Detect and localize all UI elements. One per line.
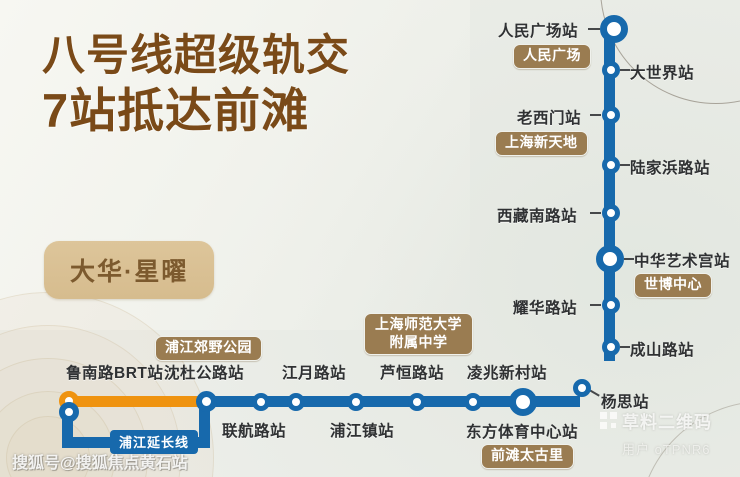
station-tick-renmin-guangchang <box>588 28 600 30</box>
corner-arc-top-right <box>600 0 740 104</box>
station-label-dongfang-tiyu-zhongxin: 东方体育中心站 <box>466 420 578 442</box>
station-tick-yangsi <box>589 389 600 396</box>
station-dot-lujiabang-lu[interactable] <box>602 156 620 174</box>
station-dot-pujiang-zhen[interactable] <box>347 393 365 411</box>
station-tick-chengshan-lu <box>620 346 630 348</box>
brt-line-horizontal <box>68 396 210 407</box>
station-dot-yangsi[interactable] <box>573 379 591 397</box>
station-label-xizang-nan-lu: 西藏南路站 <box>497 204 577 226</box>
watermark-right-title: 草料二维码 <box>622 408 712 433</box>
poi-badge-shisida-fuzhong: 上海师范大学 附属中学 <box>364 313 473 355</box>
headline-line-2: 7站抵达前滩 <box>42 86 350 136</box>
poi-badge-pujiang-jiaoye-gongyuan: 浦江郊野公园 <box>155 336 262 361</box>
station-label-pujiang-zhen: 浦江镇站 <box>330 419 394 441</box>
station-tick-xizang-nan-lu <box>590 212 601 214</box>
watermark-right: 草料二维码 用户 oTPNR6 <box>600 408 712 458</box>
station-label-chengshan-lu: 成山路站 <box>630 338 694 360</box>
station-tick-laoximen <box>590 114 601 116</box>
poi-badge-line-2: 附属中学 <box>375 334 462 352</box>
station-dot-dashijie[interactable] <box>602 61 620 79</box>
poi-badge-shibo-zhongxin: 世博中心 <box>634 273 712 298</box>
poi-badge-line-1: 上海师范大学 <box>375 316 462 334</box>
station-label-lunan-lu-brt: 鲁南路BRT站 <box>66 361 163 383</box>
station-dot-xizang-nan-lu[interactable] <box>602 204 620 222</box>
brand-badge: 大华·星曜 <box>44 241 214 299</box>
station-label-renmin-guangchang: 人民广场站 <box>498 19 578 41</box>
station-dot-dongfang-tiyu-zhongxin[interactable] <box>509 388 537 416</box>
station-label-laoximen: 老西门站 <box>517 106 581 128</box>
station-tick-yaohua-lu <box>590 304 601 306</box>
station-dot-lingzhao-xincun[interactable] <box>464 393 482 411</box>
station-dot-renmin-guangchang[interactable] <box>600 15 628 43</box>
station-tick-zhonghua-yishugong <box>624 258 634 260</box>
station-tick-lujiabang-lu <box>620 164 630 166</box>
station-label-luheng-lu: 芦恒路站 <box>380 361 444 383</box>
headline-line-1: 八号线超级轨交 <box>42 34 350 80</box>
station-tick-dashijie <box>620 69 630 71</box>
station-label-lujiabang-lu: 陆家浜路站 <box>630 156 710 178</box>
station-label-yaohua-lu: 耀华路站 <box>513 296 577 318</box>
station-label-dashijie: 大世界站 <box>630 61 694 83</box>
station-label-shendu-gonglu: 沈杜公路站 <box>164 361 244 383</box>
poi-badge-shanghai-xintiandi: 上海新天地 <box>495 131 588 156</box>
station-dot-zhonghua-yishugong[interactable] <box>596 245 624 273</box>
station-dot-luheng-lu[interactable] <box>408 393 426 411</box>
headline-block: 八号线超级轨交 7站抵达前滩 <box>42 34 350 135</box>
station-dot-shendu-gonglu[interactable] <box>196 391 217 412</box>
brand-name: 大华·星曜 <box>70 258 188 286</box>
qr-code-icon <box>600 412 617 429</box>
station-label-jiangyue-lu: 江月路站 <box>282 361 346 383</box>
station-dot-yaohua-lu[interactable] <box>602 296 620 314</box>
station-label-lianhang-lu: 联航路站 <box>222 419 286 441</box>
poi-badge-qiantan-taikooli: 前滩太古里 <box>481 444 574 469</box>
poster-canvas: 八号线超级轨交 7站抵达前滩 大华·星曜 浦江延长线 人民广场站 人民广场 大世… <box>0 0 740 477</box>
station-label-zhonghua-yishugong: 中华艺术宫站 <box>634 249 730 271</box>
station-dot-jiangyue-lu[interactable] <box>287 393 305 411</box>
station-label-lingzhao-xincun: 凌兆新村站 <box>467 361 547 383</box>
poi-badge-renmin-guangchang: 人民广场 <box>513 44 591 69</box>
watermark-right-user: 用户 oTPNR6 <box>622 439 712 458</box>
station-dot-spur-terminus[interactable] <box>59 402 79 422</box>
station-dot-chengshan-lu[interactable] <box>602 338 620 356</box>
watermark-left: 搜狐号@搜狐焦点黄石站 <box>12 449 188 473</box>
station-dot-lianhang-lu[interactable] <box>252 393 270 411</box>
station-dot-laoximen[interactable] <box>602 106 620 124</box>
